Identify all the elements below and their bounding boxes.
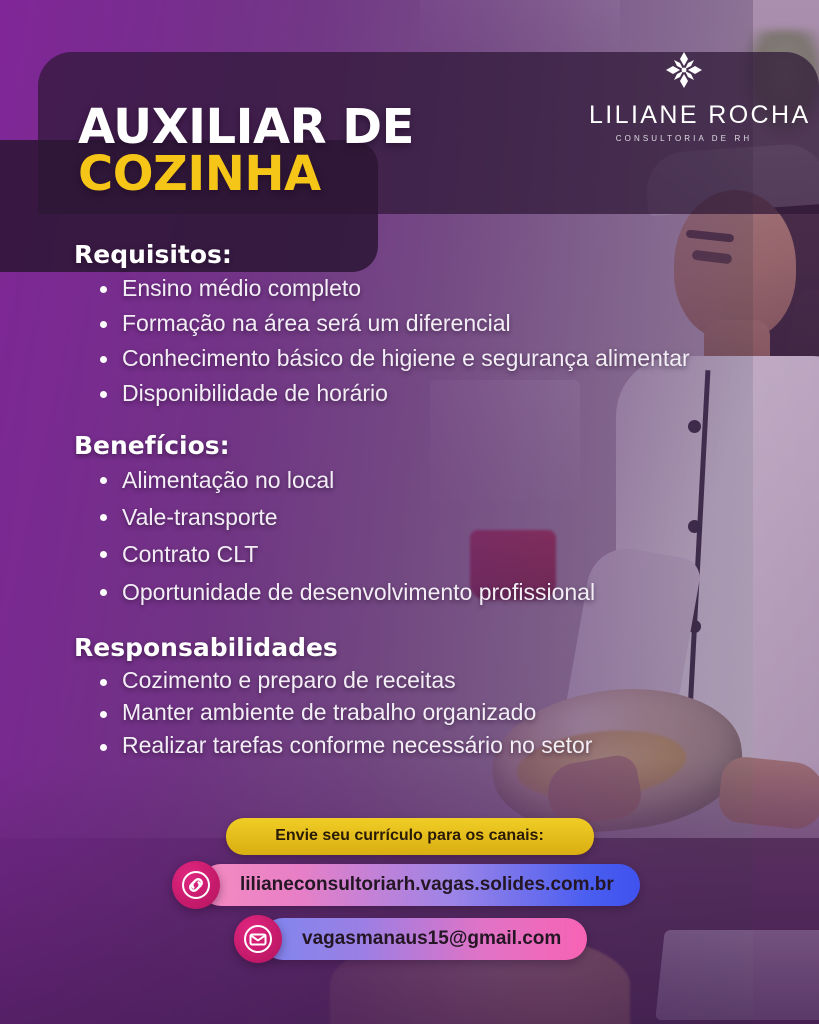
list-item: Manter ambiente de trabalho organizado xyxy=(100,696,714,729)
brand-logo: LILIANE ROCHA CONSULTORIA DE RH xyxy=(589,48,779,143)
website-url[interactable]: lilianeconsultoriarh.vagas.solides.com.b… xyxy=(200,864,640,906)
list-item: Disponibilidade de horário xyxy=(100,376,714,411)
job-details: Requisitos: Ensino médio completo Formaç… xyxy=(74,240,714,762)
list-item: Ensino médio completo xyxy=(100,271,714,306)
brand-tagline: CONSULTORIA DE RH xyxy=(589,134,779,143)
beneficios-list: Alimentação no local Vale-transporte Con… xyxy=(74,462,714,611)
list-item: Alimentação no local xyxy=(100,462,714,499)
list-item: Formação na área será um diferencial xyxy=(100,306,714,341)
brand-name: LILIANE ROCHA xyxy=(589,103,779,128)
list-item: Conhecimento básico de higiene e seguran… xyxy=(100,341,714,376)
section-heading-beneficios: Benefícios: xyxy=(74,431,714,460)
section-heading-requisitos: Requisitos: xyxy=(74,240,714,269)
job-title-line-2: COZINHA xyxy=(78,151,414,198)
contact-section: Envie seu currículo para os canais: lili… xyxy=(0,818,819,963)
job-vacancy-poster: LILIANE ROCHA CONSULTORIA DE RH AUXILIAR… xyxy=(0,0,819,1024)
list-item: Oportunidade de desenvolvimento profissi… xyxy=(100,574,714,611)
link-chain-icon xyxy=(172,861,220,909)
job-title: AUXILIAR DE COZINHA xyxy=(78,104,414,198)
website-contact-row[interactable]: lilianeconsultoriarh.vagas.solides.com.b… xyxy=(0,861,819,909)
cta-banner: Envie seu currículo para os canais: xyxy=(226,818,594,855)
job-title-line-1: AUXILIAR DE xyxy=(78,104,414,151)
section-heading-responsabilidades: Responsabilidades xyxy=(74,633,714,662)
list-item: Cozimento e preparo de receitas xyxy=(100,664,714,697)
responsabilidades-list: Cozimento e preparo de receitas Manter a… xyxy=(74,664,714,762)
list-item: Contrato CLT xyxy=(100,536,714,573)
list-item: Vale-transporte xyxy=(100,499,714,536)
email-contact-row[interactable]: vagasmanaus15@gmail.com xyxy=(0,915,819,963)
requisitos-list: Ensino médio completo Formação na área s… xyxy=(74,271,714,411)
woven-cross-monogram-icon xyxy=(589,48,779,97)
list-item: Realizar tarefas conforme necessário no … xyxy=(100,729,714,762)
email-address[interactable]: vagasmanaus15@gmail.com xyxy=(262,918,587,960)
envelope-icon xyxy=(234,915,282,963)
